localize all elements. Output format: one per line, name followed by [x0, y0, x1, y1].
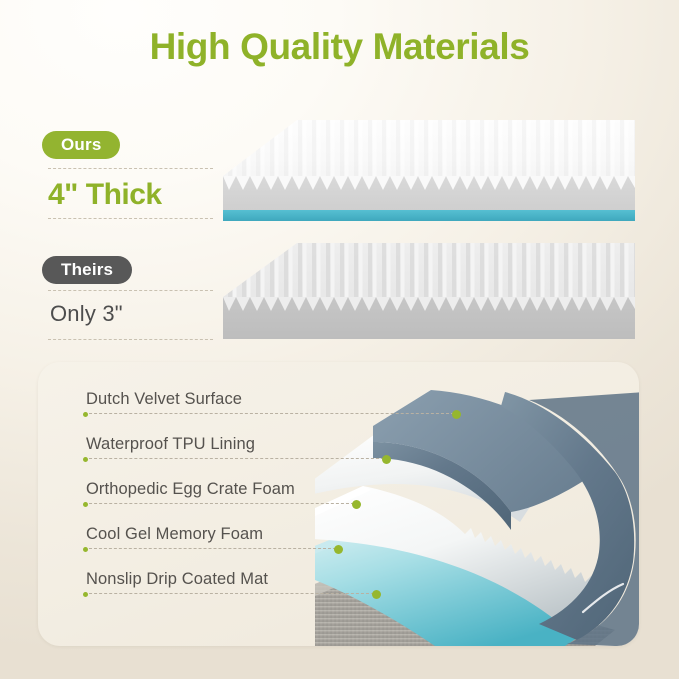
feature-callout-list: Dutch Velvet Surface Waterproof TPU Lini… [38, 362, 639, 646]
callout-line [84, 458, 384, 459]
badge-ours: Ours [42, 131, 120, 159]
theirs-measure-line-bottom [48, 339, 213, 340]
feature-label: Dutch Velvet Surface [86, 390, 242, 409]
callout-start-dot [83, 592, 88, 597]
ours-measure-line-top [48, 168, 213, 169]
callout-start-dot [83, 547, 88, 552]
feature-label: Orthopedic Egg Crate Foam [86, 480, 295, 499]
callout-start-dot [83, 412, 88, 417]
callout-start-dot [83, 457, 88, 462]
feature-label: Cool Gel Memory Foam [86, 525, 263, 544]
callout-end-dot [452, 410, 461, 419]
feature-label: Nonslip Drip Coated Mat [86, 570, 268, 589]
feature-label: Waterproof TPU Lining [86, 435, 255, 454]
badge-theirs: Theirs [42, 256, 132, 284]
ours-measure-line-bottom [48, 218, 213, 219]
infographic-page: High Quality Materials Ours 4" Thick [0, 0, 679, 679]
ours-mattress-illustration [205, 118, 635, 230]
comparison-row-theirs: Theirs Only 3" [0, 237, 679, 347]
callout-end-dot [352, 500, 361, 509]
theirs-mattress-illustration [205, 241, 635, 344]
theirs-thickness-label: Only 3" [50, 301, 123, 327]
callout-line [84, 548, 336, 549]
layers-card: Dutch Velvet Surface Waterproof TPU Lini… [38, 362, 639, 646]
callout-start-dot [83, 502, 88, 507]
callout-line [84, 503, 354, 504]
callout-end-dot [372, 590, 381, 599]
theirs-measure-line-top [48, 290, 213, 291]
ours-thickness-label: 4" Thick [48, 178, 162, 212]
callout-line [84, 413, 454, 414]
callout-line [84, 593, 374, 594]
thickness-comparison: Ours 4" Thick [0, 112, 679, 344]
comparison-row-ours: Ours 4" Thick [0, 112, 679, 232]
callout-end-dot [382, 455, 391, 464]
callout-end-dot [334, 545, 343, 554]
page-title: High Quality Materials [0, 26, 679, 68]
